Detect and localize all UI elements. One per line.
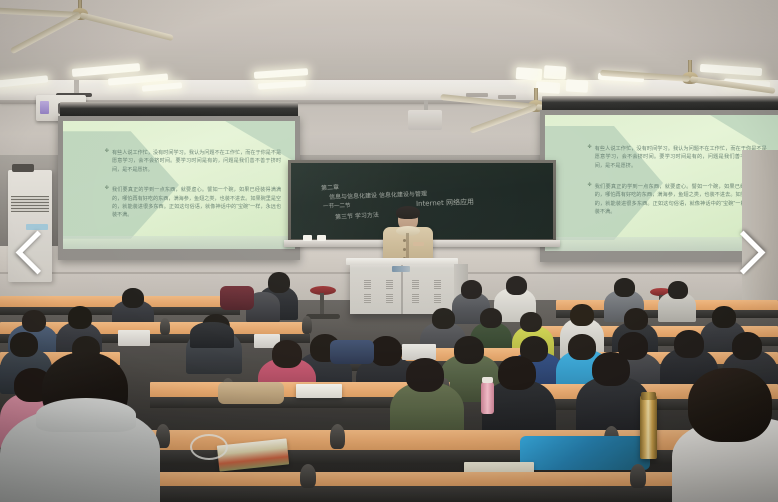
slide-bullet: ✤ 有些人说工作忙，没有时间学习。我认为问题不在工作忙，而在于你是不是愿意学习，…	[587, 145, 766, 170]
screen-surface: ✤ 有些人说工作忙，没有时间学习。我认为问题不在工作忙，而在于你是不是愿意学习，…	[63, 121, 295, 249]
projector-indicator	[40, 101, 49, 114]
student-head	[461, 280, 482, 299]
chalk-piece	[317, 235, 326, 241]
blue-jacket	[520, 436, 650, 470]
hoodie-hood	[36, 398, 136, 432]
bullet-glyph-icon: ✤	[587, 145, 591, 170]
podium-label	[392, 266, 410, 272]
coat-button	[403, 239, 406, 242]
slide-footer-band	[63, 236, 295, 249]
chevron-right-icon	[722, 231, 766, 275]
podium-door-seam	[401, 265, 403, 314]
student-backpack	[190, 322, 234, 348]
fluorescent-light	[566, 79, 589, 93]
podium-vent	[364, 294, 371, 303]
speaker-hair	[396, 206, 420, 219]
student-head	[370, 336, 402, 366]
student-head	[592, 352, 630, 386]
slide-text-body: ✤ 有些人说工作忙，没有时间学习。我认为问题不在工作忙，而在于你是不是愿意学习，…	[587, 145, 766, 229]
bullet-glyph-icon: ✤	[105, 186, 109, 219]
student-head	[122, 288, 144, 308]
paper-bag	[218, 382, 284, 404]
student-head	[506, 276, 527, 295]
bullet-glyph-icon: ✤	[587, 183, 591, 217]
chalk-piece	[303, 235, 312, 241]
ceiling-vent	[498, 95, 516, 99]
slide-bullet-text: 我们要真正的学到一点东西，就要虚心。譬如一个碗，如果已经装得满满的，哪怕再有好吃…	[112, 186, 281, 219]
slide-bullet: ✤ 我们要真正的学到一点东西，就要虚心。譬如一个碗，如果已经装得满满的，哪怕再有…	[105, 186, 281, 219]
student-head	[406, 358, 444, 392]
image-viewer: ✤ 有些人说工作忙，没有时间学习。我认为问题不在工作忙，而在于你是不是愿意学习，…	[0, 0, 778, 502]
student-head	[432, 308, 455, 329]
desk-post	[160, 318, 170, 335]
podium-vent	[386, 294, 393, 303]
thermos-cap	[641, 392, 656, 400]
ac-grille	[11, 196, 49, 212]
next-image-button[interactable]	[726, 225, 760, 277]
student-head	[624, 308, 648, 330]
student-head	[454, 336, 484, 364]
gold-thermos	[640, 395, 657, 459]
slide-text-body: ✤ 有些人说工作忙，没有时间学习。我认为问题不在工作忙，而在于你是不是愿意学习，…	[105, 149, 281, 231]
notebook	[296, 384, 342, 398]
stool-base	[306, 314, 340, 319]
desk-post	[300, 464, 316, 488]
desk-post	[302, 316, 312, 334]
student-head	[732, 332, 762, 360]
podium-vent	[434, 280, 441, 289]
projection-screen-left: ✤ 有些人说工作忙，没有时间学习。我认为问题不在工作忙，而在于你是不是愿意学习，…	[58, 102, 300, 260]
student-head	[688, 368, 772, 442]
slide-bullet: ✤ 我们要真正的学到一点东西，就要虚心。譬如一个碗，如果已经装得满满的，哪怕再有…	[587, 183, 766, 217]
student-head	[272, 340, 302, 368]
slide-bullet: ✤ 有些人说工作忙，没有时间学习。我认为问题不在工作忙，而在于你是不是愿意学习，…	[105, 149, 281, 174]
student-head	[520, 312, 542, 332]
student-head	[10, 332, 38, 357]
podium-vent	[434, 294, 441, 303]
student-head	[498, 356, 536, 390]
student-head	[614, 278, 635, 297]
lecture-hall-photo: ✤ 有些人说工作忙，没有时间学习。我认为问题不在工作忙，而在于你是不是愿意学习，…	[0, 0, 778, 502]
fluorescent-light	[516, 67, 543, 81]
earphones	[190, 434, 228, 460]
chalk-text: 一节一二节	[323, 201, 351, 210]
speaker-badge	[413, 242, 424, 246]
slide-bullet-text: 有些人说工作忙，没有时间学习。我认为问题不在工作忙，而在于你是不是愿意学习，会不…	[112, 149, 281, 174]
podium-vent	[412, 294, 419, 303]
student-head	[668, 281, 688, 299]
student-head	[712, 306, 736, 328]
desk-post	[630, 464, 646, 488]
projector	[408, 110, 442, 130]
student-head	[22, 310, 46, 332]
student-head	[68, 306, 92, 329]
podium-vent	[364, 280, 371, 289]
student-head	[268, 272, 290, 293]
coat-button	[403, 248, 406, 251]
pink-bottle	[481, 382, 494, 414]
fluorescent-light	[544, 65, 567, 80]
handbag	[220, 286, 254, 310]
fluorescent-light	[536, 81, 561, 94]
podium-vent	[386, 280, 393, 289]
backpack	[330, 340, 374, 364]
student-head	[568, 334, 596, 360]
laptop	[118, 330, 150, 346]
pink-bottle-cap	[482, 377, 493, 383]
podium-top	[346, 258, 458, 265]
chalk-text: 第二章	[321, 182, 339, 192]
student-head	[480, 308, 502, 328]
bullet-glyph-icon: ✤	[105, 149, 109, 174]
podium-vent	[412, 280, 419, 289]
desk-post	[330, 424, 345, 449]
prev-image-button[interactable]	[18, 225, 52, 277]
student-head	[674, 330, 704, 358]
slide-content: ✤ 有些人说工作忙，没有时间学习。我认为问题不在工作忙，而在于你是不是愿意学习，…	[63, 121, 295, 249]
ac-top-object	[12, 164, 34, 172]
chalk-text: Internet 网络应用	[416, 197, 474, 209]
student-head	[570, 304, 594, 326]
